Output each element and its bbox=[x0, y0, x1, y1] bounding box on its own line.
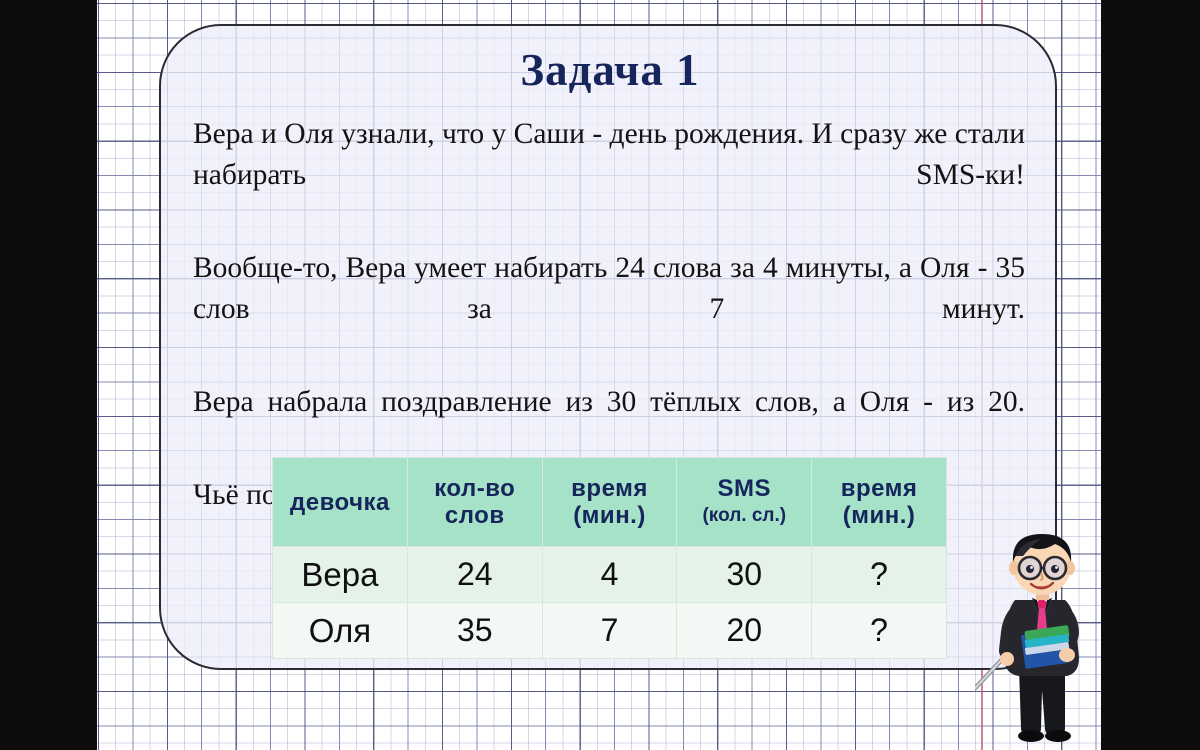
column-header-word-count: кол-во слов bbox=[407, 458, 542, 547]
slide-stage: Задача 1 Вера и Оля узнали, что у Саши -… bbox=[0, 0, 1200, 750]
header-line1: кол-во bbox=[408, 475, 542, 502]
header-line1: время bbox=[812, 475, 946, 502]
paragraph-intro: Вера и Оля узнали, что у Саши - день рож… bbox=[193, 114, 1025, 237]
header-line2: (мин.) bbox=[543, 502, 677, 529]
column-header-sms: SMS (кол. сл.) bbox=[677, 458, 812, 547]
books-icon bbox=[1021, 625, 1070, 669]
cell-word-count: 24 bbox=[407, 547, 542, 603]
letterbox-bar-left bbox=[0, 0, 97, 750]
header-line1: SMS bbox=[677, 475, 811, 502]
cell-result: ? bbox=[812, 547, 947, 603]
cell-time: 4 bbox=[542, 547, 677, 603]
paragraph-message-lengths: Вера набрала поздравление из 30 тёплых с… bbox=[193, 382, 1025, 464]
column-header-time: время (мин.) bbox=[542, 458, 677, 547]
cell-result: ? bbox=[812, 603, 947, 659]
header-line1: девочка bbox=[273, 489, 407, 516]
grid-paper-background: Задача 1 Вера и Оля узнали, что у Саши -… bbox=[97, 0, 1101, 750]
header-line2: слов bbox=[408, 502, 542, 529]
column-header-girl: девочка bbox=[273, 458, 408, 547]
column-header-time-result: время (мин.) bbox=[812, 458, 947, 547]
letterbox-bar-right bbox=[1101, 0, 1200, 750]
header-line2: (мин.) bbox=[812, 502, 946, 529]
cell-girl-name: Вера bbox=[273, 547, 408, 603]
data-table: девочка кол-во слов время (мин.) SMS ( bbox=[272, 457, 947, 659]
problem-card: Задача 1 Вера и Оля узнали, что у Саши -… bbox=[159, 24, 1057, 670]
table-row: Вера 24 4 30 ? bbox=[273, 547, 947, 603]
cell-time: 7 bbox=[542, 603, 677, 659]
cell-word-count: 35 bbox=[407, 603, 542, 659]
header-line1: время bbox=[543, 475, 677, 502]
paragraph-rates: Вообще-то, Вера умеет набирать 24 слова … bbox=[193, 248, 1025, 371]
schoolboy-illustration bbox=[975, 528, 1110, 750]
cell-sms: 20 bbox=[677, 603, 812, 659]
cell-girl-name: Оля bbox=[273, 603, 408, 659]
cell-sms: 30 bbox=[677, 547, 812, 603]
page-title: Задача 1 bbox=[161, 44, 1059, 96]
table-row: Оля 35 7 20 ? bbox=[273, 603, 947, 659]
header-line2: (кол. сл.) bbox=[677, 502, 811, 529]
table-header-row: девочка кол-во слов время (мин.) SMS ( bbox=[273, 458, 947, 547]
